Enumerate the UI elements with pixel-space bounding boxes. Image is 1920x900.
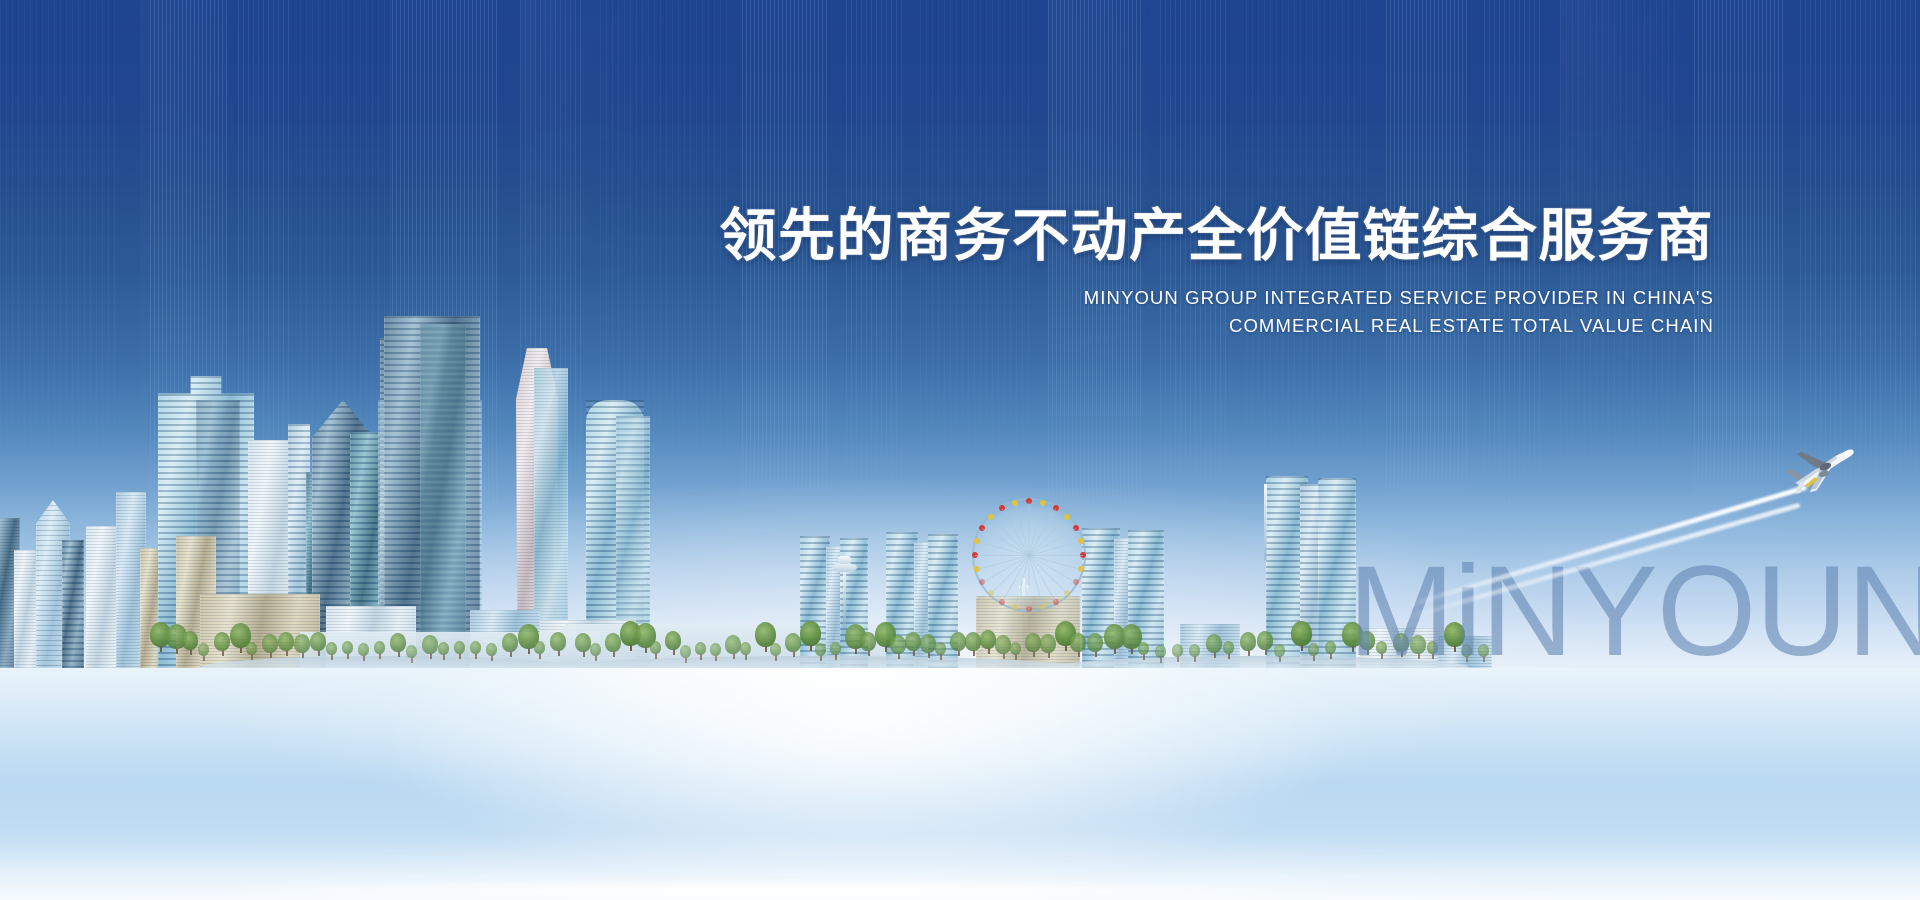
contrail-lower [1403,503,1800,621]
headline-english-line-2: COMMERCIAL REAL ESTATE TOTAL VALUE CHAIN [720,313,1715,340]
headline-block: 领先的商务不动产全价值链综合服务商 MINYOUN GROUP INTEGRAT… [720,205,1715,339]
headline-english-line-1: MINYOUN GROUP INTEGRATED SERVICE PROVIDE… [720,285,1715,312]
headline-english: MINYOUN GROUP INTEGRATED SERVICE PROVIDE… [720,285,1715,340]
airplane-icon [1782,438,1862,500]
hero-banner: MiNYOUN [0,0,1920,900]
headline-chinese: 领先的商务不动产全价值链综合服务商 [720,205,1715,269]
horizon-highlight [0,878,1920,900]
contrail-upper [1403,485,1807,609]
